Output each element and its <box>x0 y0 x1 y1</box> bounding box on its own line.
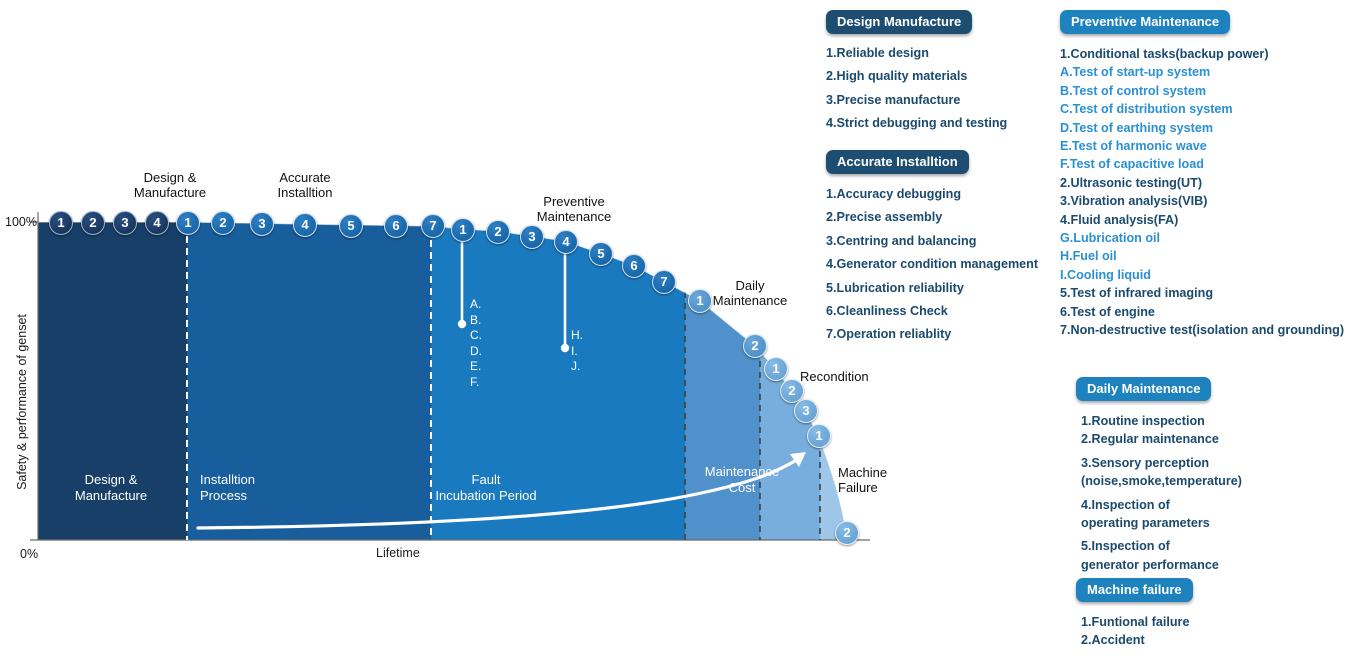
panel-list-daily-maintenance: 1.Routine inspection 2.Regular maintenan… <box>1081 412 1242 574</box>
marker-daily-2[interactable]: 2 <box>743 334 767 358</box>
list-item: 4.Generator condition management <box>826 255 1038 273</box>
panel-list-preventive-maintenance: 1.Conditional tasks(backup power) A.Test… <box>1060 45 1344 340</box>
sublist-item: E. <box>470 359 482 375</box>
sublist-item: A. <box>470 297 482 313</box>
list-item: H.Fuel oil <box>1060 247 1344 265</box>
list-item: 3.Centring and balancing <box>826 232 1038 250</box>
panel-machine-failure: Machine failure 1.Funtional failure 2.Ac… <box>1076 578 1193 650</box>
sublist-item: J. <box>571 359 583 375</box>
caption-accurate-installation: Accurate Installtion <box>245 170 365 200</box>
sublist-item: F. <box>470 375 482 391</box>
list-item: B.Test of control system <box>1060 82 1344 100</box>
caption-machine-failure: Machine Failure <box>838 465 918 495</box>
marker-preventive-4[interactable]: 4 <box>554 230 578 254</box>
list-item: 6.Cleanliness Check <box>826 302 1038 320</box>
list-item: 2.Regular maintenance <box>1081 430 1242 448</box>
marker-preventive-7[interactable]: 7 <box>652 270 676 294</box>
sublist-preventive-4: H. I. J. <box>571 328 583 375</box>
marker-installation-5[interactable]: 5 <box>339 214 363 238</box>
dropline-pm-1-dot <box>458 320 466 328</box>
marker-design-3[interactable]: 3 <box>113 211 137 235</box>
band-label-design-manufacture: Design & Manufacture <box>36 472 186 504</box>
marker-preventive-6[interactable]: 6 <box>622 254 646 278</box>
marker-failure-1[interactable]: 1 <box>807 424 831 448</box>
sublist-item: D. <box>470 344 482 360</box>
sublist-item: H. <box>571 328 583 344</box>
marker-preventive-2[interactable]: 2 <box>486 220 510 244</box>
list-item: C.Test of distribution system <box>1060 100 1344 118</box>
lifecycle-chart: 100% 0% Lifetime Safety & performance of… <box>0 0 900 658</box>
marker-preventive-5[interactable]: 5 <box>589 242 613 266</box>
marker-design-2[interactable]: 2 <box>81 211 105 235</box>
list-item: 2.Accident <box>1081 631 1193 649</box>
sublist-preventive-1: A. B. C. D. E. F. <box>470 297 482 391</box>
list-item: F.Test of capacitive load <box>1060 155 1344 173</box>
y-axis-tick-0: 0% <box>20 547 38 561</box>
panel-accurate-installtion: Accurate Installtion 1.Accuracy debuggin… <box>826 150 1038 344</box>
list-item: G.Lubrication oil <box>1060 229 1344 247</box>
list-item: 5.Test of infrared imaging <box>1060 284 1344 302</box>
panel-list-design-manufacture: 1.Reliable design 2.High quality materia… <box>826 44 1007 133</box>
list-item: 6.Test of engine <box>1060 303 1344 321</box>
panel-title-design-manufacture[interactable]: Design Manufacture <box>826 10 972 34</box>
list-item: 4.Inspection of operating parameters <box>1081 496 1242 533</box>
panel-preventive-maintenance: Preventive Maintenance 1.Conditional tas… <box>1060 10 1344 340</box>
list-item: I.Cooling liquid <box>1060 266 1344 284</box>
sublist-item: I. <box>571 344 583 360</box>
list-item: 5.Inspection of generator performance <box>1081 537 1242 574</box>
list-item: A.Test of start-up system <box>1060 63 1344 81</box>
list-item: 1.Reliable design <box>826 44 1007 62</box>
chart-svg <box>0 0 900 658</box>
caption-daily-maintenance: Daily Maintenance <box>700 278 800 308</box>
list-item: D.Test of earthing system <box>1060 119 1344 137</box>
panel-title-daily-maintenance[interactable]: Daily Maintenance <box>1076 377 1211 401</box>
list-item: 5.Lubrication reliability <box>826 279 1038 297</box>
panel-title-machine-failure[interactable]: Machine failure <box>1076 578 1193 602</box>
list-item: 1.Routine inspection <box>1081 412 1242 430</box>
x-axis-title: Lifetime <box>376 546 420 560</box>
list-item: 2.Ultrasonic testing(UT) <box>1060 174 1344 192</box>
panel-title-accurate-installtion[interactable]: Accurate Installtion <box>826 150 969 174</box>
list-item: 4.Strict debugging and testing <box>826 114 1007 132</box>
marker-installation-4[interactable]: 4 <box>293 213 317 237</box>
panel-design-manufacture: Design Manufacture 1.Reliable design 2.H… <box>826 10 1007 133</box>
list-item: 1.Accuracy debugging <box>826 185 1038 203</box>
marker-installation-2[interactable]: 2 <box>211 211 235 235</box>
caption-preventive-maintenance: Preventive Maintenance <box>512 194 636 224</box>
list-item: 1.Funtional failure <box>1081 613 1193 631</box>
marker-design-4[interactable]: 4 <box>145 211 169 235</box>
sublist-item: C. <box>470 328 482 344</box>
y-axis-tick-100: 100% <box>5 215 37 229</box>
list-item: 7.Non-destructive test(isolation and gro… <box>1060 321 1344 339</box>
marker-failure-2[interactable]: 2 <box>835 521 859 545</box>
list-item: 4.Fluid analysis(FA) <box>1060 211 1344 229</box>
marker-installation-6[interactable]: 6 <box>384 214 408 238</box>
list-item: 2.Precise assembly <box>826 208 1038 226</box>
list-item: 3.Vibration analysis(VIB) <box>1060 192 1344 210</box>
marker-installation-3[interactable]: 3 <box>250 212 274 236</box>
panel-title-preventive-maintenance[interactable]: Preventive Maintenance <box>1060 10 1230 34</box>
list-item: 3.Precise manufacture <box>826 91 1007 109</box>
marker-installation-1[interactable]: 1 <box>176 211 200 235</box>
caption-design-manufacture: Design & Manufacture <box>110 170 230 200</box>
sublist-item: B. <box>470 313 482 329</box>
band-label-maintenance-cost: Maintenance Cost <box>690 464 794 496</box>
band-label-installation-process: Installtion Process <box>200 472 330 504</box>
marker-preventive-3[interactable]: 3 <box>520 225 544 249</box>
list-item: 3.Sensory perception (noise,smoke,temper… <box>1081 454 1242 491</box>
list-item: 7.Operation reliablity <box>826 325 1038 343</box>
marker-daily-1[interactable]: 1 <box>688 289 712 313</box>
list-item: 2.High quality materials <box>826 67 1007 85</box>
marker-recondition-1[interactable]: 1 <box>764 357 788 381</box>
panel-daily-maintenance: Daily Maintenance 1.Routine inspection 2… <box>1076 377 1242 574</box>
marker-preventive-1[interactable]: 1 <box>451 218 475 242</box>
caption-recondition: Recondition <box>800 369 900 384</box>
marker-recondition-3[interactable]: 3 <box>794 399 818 423</box>
panel-list-accurate-installtion: 1.Accuracy debugging 2.Precise assembly … <box>826 185 1038 344</box>
list-item: E.Test of harmonic wave <box>1060 137 1344 155</box>
panel-list-machine-failure: 1.Funtional failure 2.Accident <box>1081 613 1193 650</box>
list-item: 1.Conditional tasks(backup power) <box>1060 45 1344 63</box>
band-label-fault-incubation: Fault Incubation Period <box>400 472 572 504</box>
marker-installation-7[interactable]: 7 <box>421 214 445 238</box>
dropline-pm-4-dot <box>561 344 569 352</box>
y-axis-title: Safety & performance of genset <box>15 302 29 502</box>
marker-design-1[interactable]: 1 <box>49 211 73 235</box>
